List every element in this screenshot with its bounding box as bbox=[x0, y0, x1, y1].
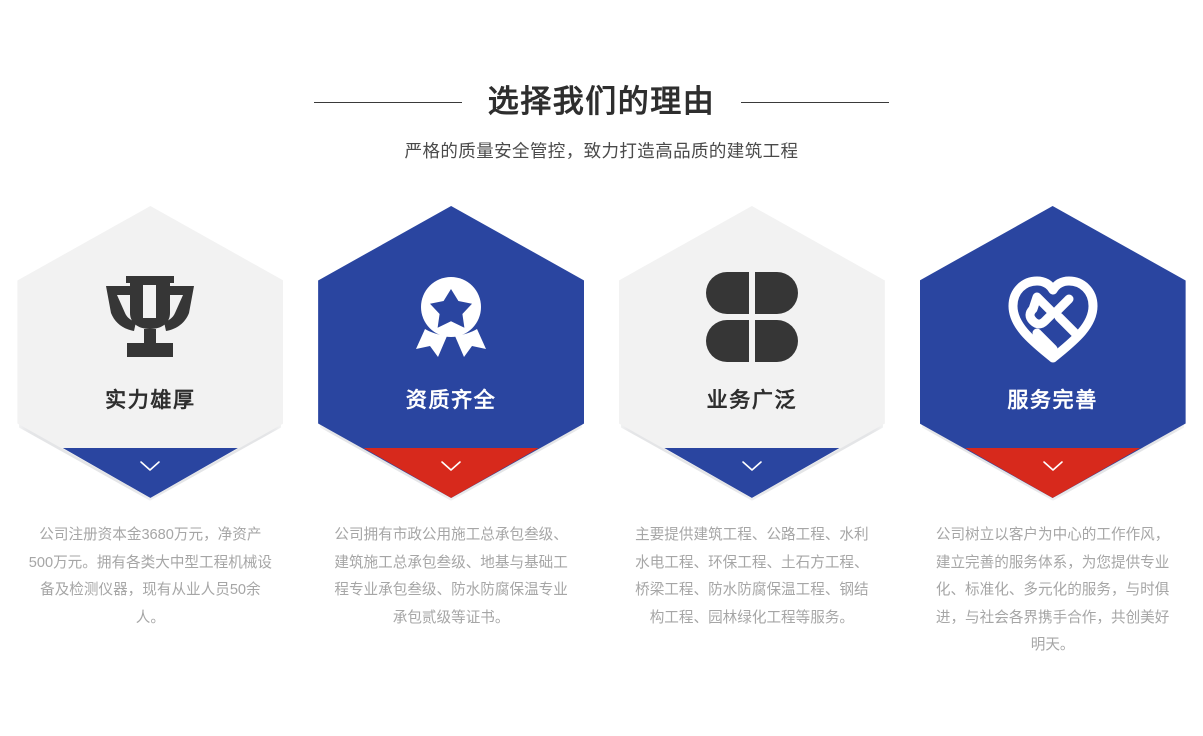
feature-card-description: 公司拥有市政公用施工总承包叁级、建筑施工总承包叁级、地基与基础工程专业承包叁级、… bbox=[329, 522, 573, 632]
feature-card-title: 资质齐全 bbox=[318, 384, 584, 414]
chevron-down-icon[interactable] bbox=[440, 460, 462, 472]
feature-card-description: 公司树立以客户为中心的工作作风，建立完善的服务体系，为您提供专业化、标准化、多元… bbox=[931, 522, 1175, 660]
clover-four-petal-icon bbox=[696, 261, 808, 373]
feature-card[interactable]: 资质齐全 公司拥有市政公用施工总承包叁级、建筑施工总承包叁级、地基与基础工程专业… bbox=[301, 200, 602, 680]
feature-cards-row: 实力雄厚 公司注册资本金3680万元，净资产500万元。拥有各类大中型工程机械设… bbox=[0, 200, 1203, 680]
feature-card-title: 实力雄厚 bbox=[17, 384, 283, 414]
trophy-icon bbox=[94, 261, 206, 373]
hexagon-accent-wedge bbox=[17, 448, 283, 498]
hexagon-accent-wedge bbox=[920, 448, 1186, 498]
feature-card[interactable]: 业务广泛 主要提供建筑工程、公路工程、水利水电工程、环保工程、土石方工程、桥梁工… bbox=[602, 200, 903, 680]
hexagon-badge[interactable]: 业务广泛 bbox=[619, 206, 885, 498]
chevron-down-icon[interactable] bbox=[741, 460, 763, 472]
page-title: 选择我们的理由 bbox=[488, 82, 716, 122]
medal-award-icon bbox=[395, 261, 507, 373]
feature-card[interactable]: 实力雄厚 公司注册资本金3680万元，净资产500万元。拥有各类大中型工程机械设… bbox=[0, 200, 301, 680]
page-subtitle: 严格的质量安全管控，致力打造高品质的建筑工程 bbox=[0, 138, 1203, 164]
hexagon-accent-wedge bbox=[619, 448, 885, 498]
feature-card-title: 业务广泛 bbox=[619, 384, 885, 414]
hexagon-badge[interactable]: 资质齐全 bbox=[318, 206, 584, 498]
feature-card[interactable]: 服务完善 公司树立以客户为中心的工作作风，建立完善的服务体系，为您提供专业化、标… bbox=[902, 200, 1203, 680]
feature-card-description: 主要提供建筑工程、公路工程、水利水电工程、环保工程、土石方工程、桥梁工程、防水防… bbox=[630, 522, 874, 632]
hexagon-shape bbox=[619, 206, 885, 498]
hexagon-shape bbox=[318, 206, 584, 498]
hexagon-shape bbox=[17, 206, 283, 498]
hexagon-badge[interactable]: 服务完善 bbox=[920, 206, 1186, 498]
why-choose-us-section: 选择我们的理由 严格的质量安全管控，致力打造高品质的建筑工程 bbox=[0, 0, 1203, 736]
title-row: 选择我们的理由 bbox=[0, 80, 1203, 124]
feature-card-title: 服务完善 bbox=[920, 384, 1186, 414]
feature-card-description: 公司注册资本金3680万元，净资产500万元。拥有各类大中型工程机械设备及检测仪… bbox=[28, 522, 272, 632]
hexagon-accent-wedge bbox=[318, 448, 584, 498]
chevron-down-icon[interactable] bbox=[139, 460, 161, 472]
title-rule-left bbox=[314, 102, 462, 103]
title-rule-right bbox=[741, 102, 889, 103]
hexagon-badge[interactable]: 实力雄厚 bbox=[17, 206, 283, 498]
section-heading: 选择我们的理由 严格的质量安全管控，致力打造高品质的建筑工程 bbox=[0, 80, 1203, 164]
chevron-down-icon[interactable] bbox=[1042, 460, 1064, 472]
heart-handshake-icon bbox=[997, 261, 1109, 373]
hexagon-shape bbox=[920, 206, 1186, 498]
